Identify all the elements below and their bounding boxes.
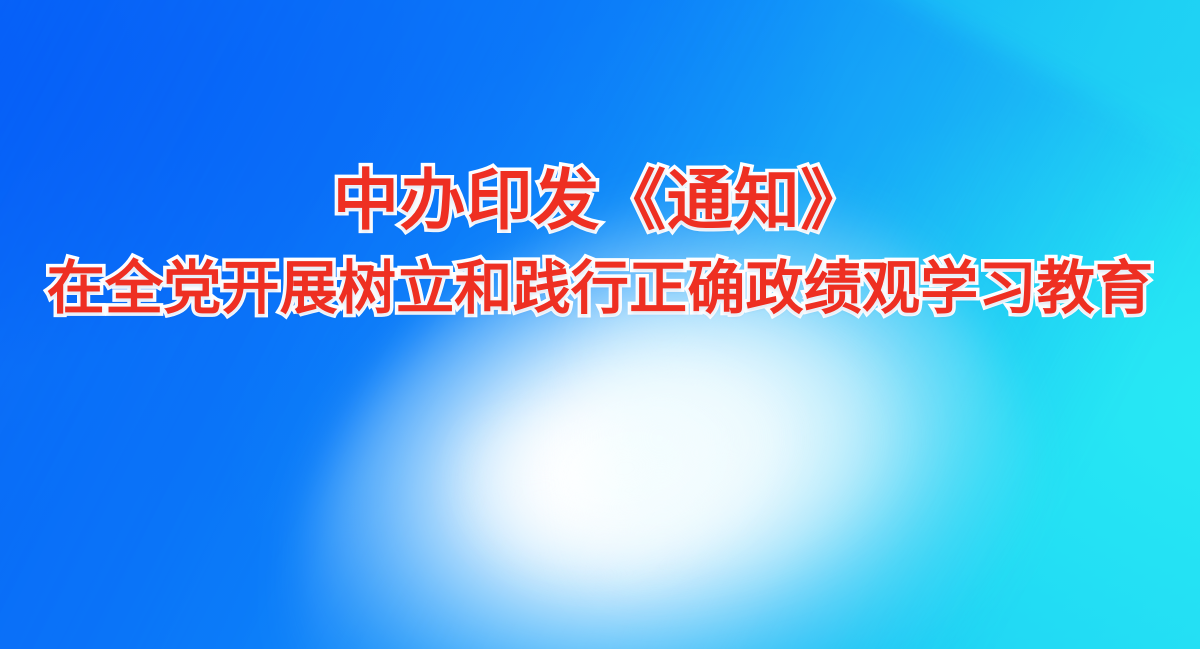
poster-canvas: 中办印发《通知》 在全党开展树立和践行正确政绩观学习教育 bbox=[0, 0, 1200, 649]
background-glow-sheen bbox=[600, 300, 1200, 600]
